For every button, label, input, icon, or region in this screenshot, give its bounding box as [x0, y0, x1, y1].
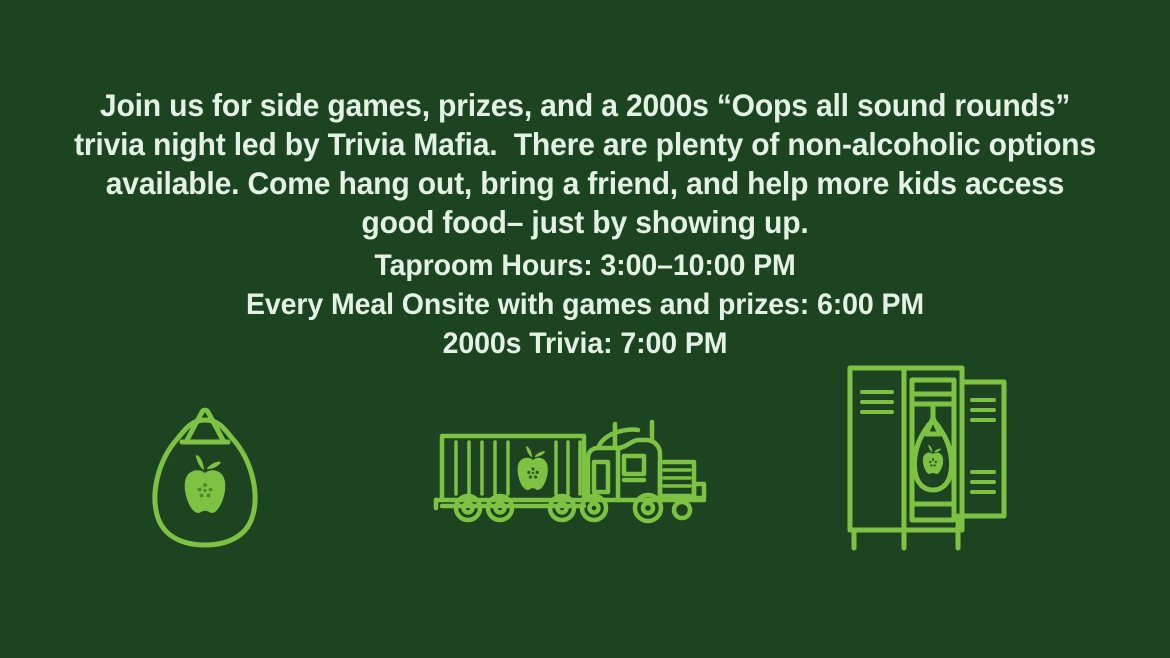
schedule-block: Taproom Hours: 3:00–10:00 PM Every Meal …: [29, 246, 1141, 363]
schedule-line-every-meal-onsite: Every Meal Onsite with games and prizes:…: [29, 285, 1141, 324]
schedule-line-taproom-hours: Taproom Hours: 3:00–10:00 PM: [29, 246, 1141, 285]
school-lockers-with-bag-icon: [846, 360, 1008, 556]
event-flyer-slide: Join us for side games, prizes, and a 20…: [0, 0, 1170, 658]
headline-text: Join us for side games, prizes, and a 20…: [68, 86, 1101, 242]
delivery-truck-with-apple-icon: [432, 418, 710, 530]
grocery-bag-with-apple-icon: [140, 390, 270, 550]
icon-row: [0, 356, 1170, 566]
